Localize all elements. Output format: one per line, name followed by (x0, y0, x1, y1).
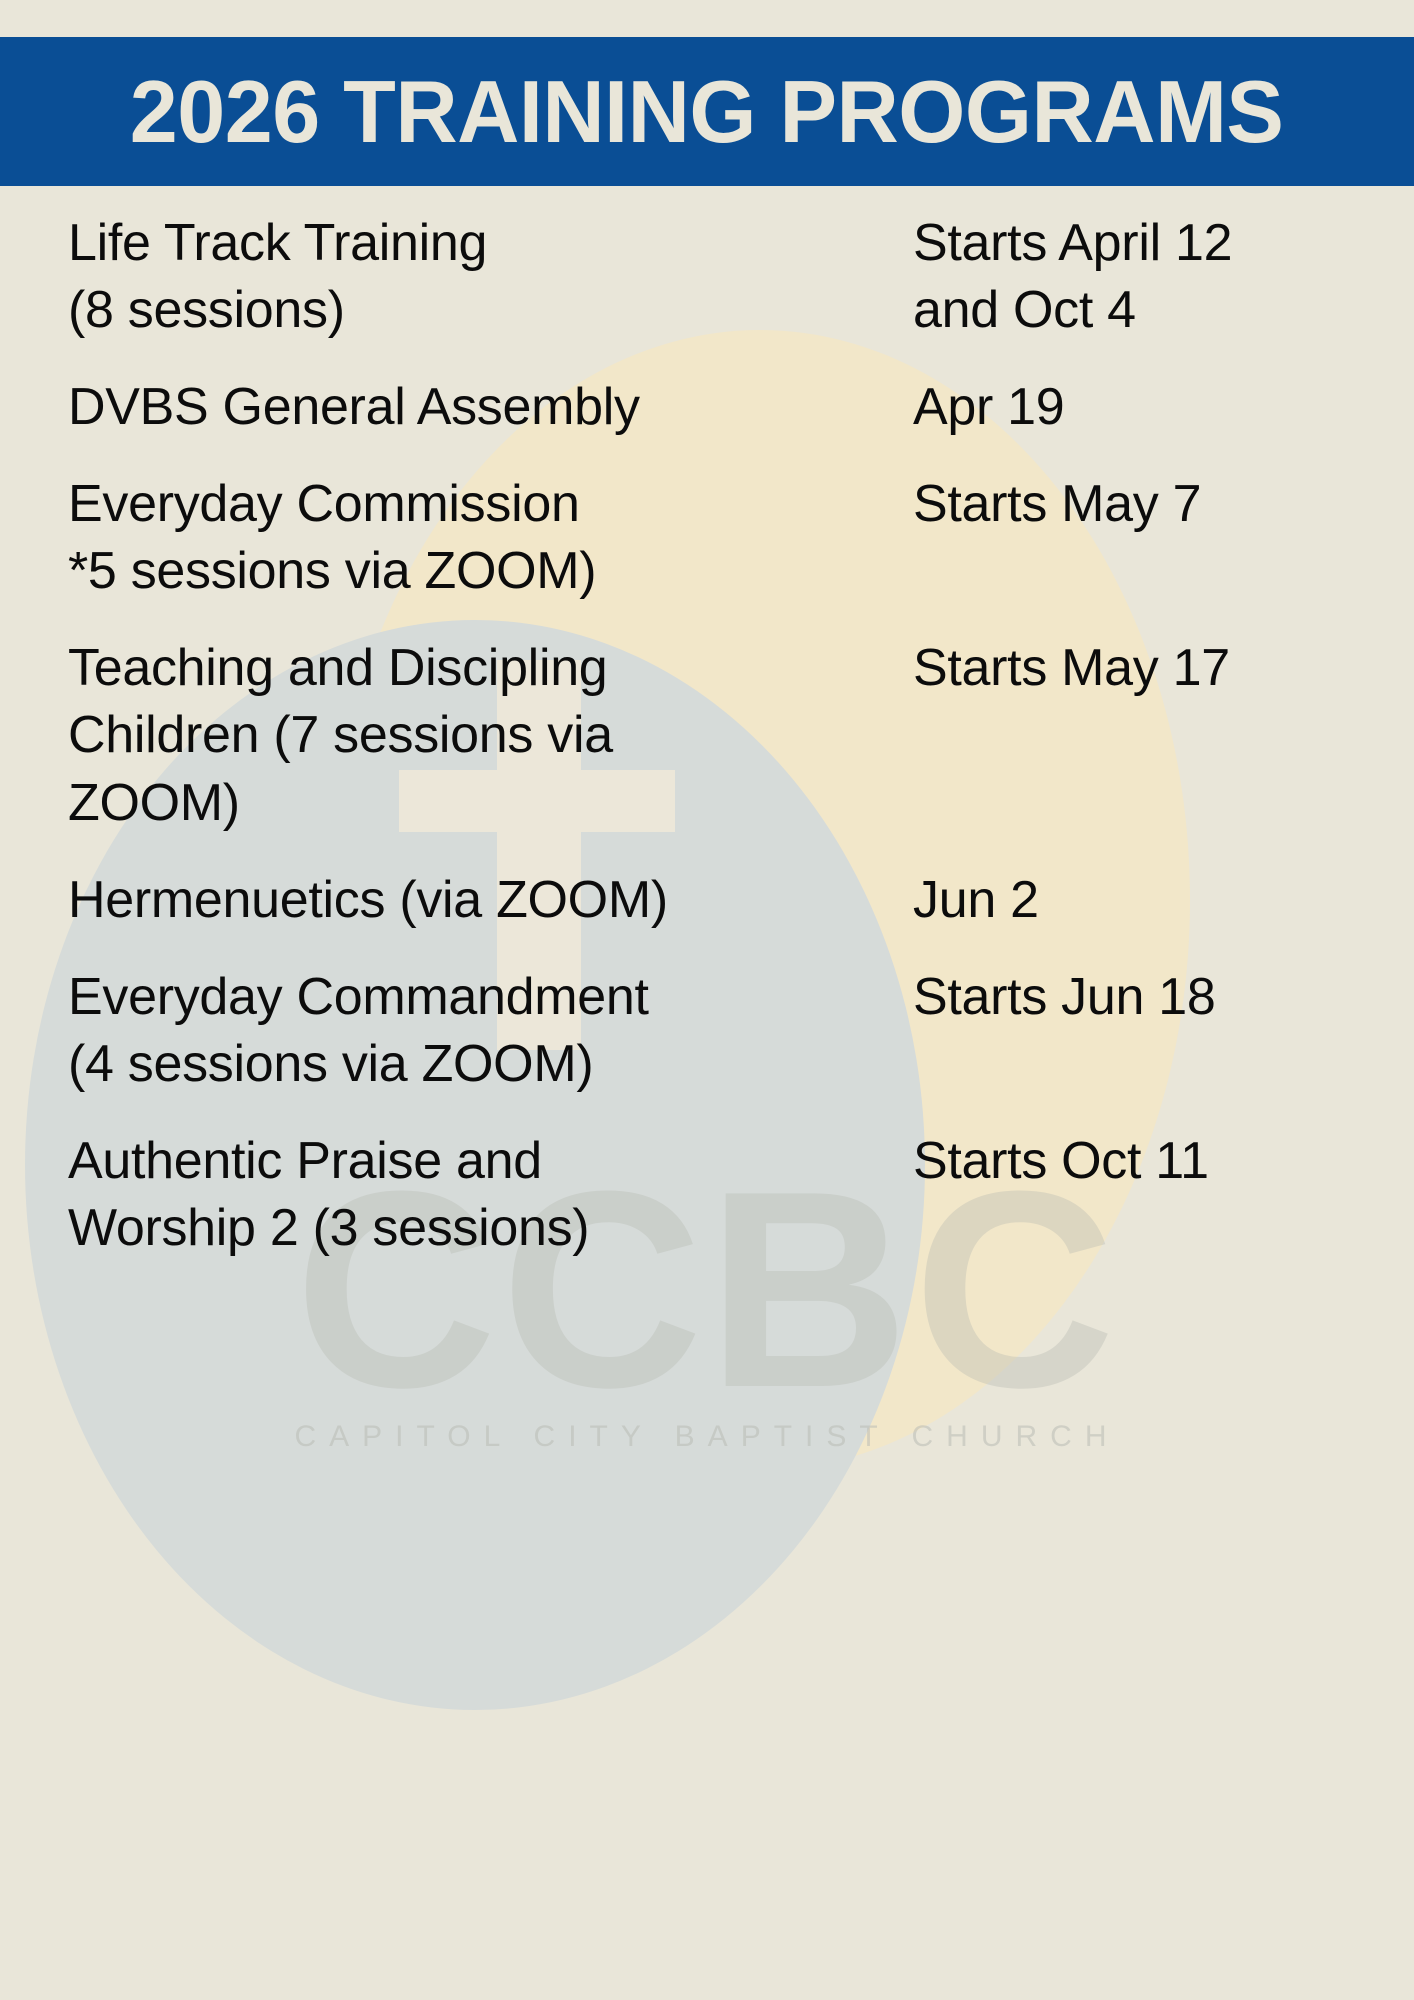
program-name-line: Authentic Praise and (68, 1128, 913, 1195)
program-row: Hermenuetics (via ZOOM) Jun 2 (68, 867, 1354, 934)
program-date-line: Starts Oct 11 (913, 1128, 1354, 1195)
training-programs-poster: CCBC CAPITOL CITY BAPTIST CHURCH 2026 TR… (0, 0, 1414, 2000)
program-date: Starts Oct 11 (913, 1128, 1354, 1195)
program-date: Jun 2 (913, 867, 1354, 934)
program-date-line: and Oct 4 (913, 277, 1354, 344)
program-date-line: Apr 19 (913, 374, 1354, 441)
program-name-line: Teaching and Discipling (68, 635, 913, 702)
program-name: DVBS General Assembly (68, 374, 913, 441)
program-name-line: (8 sessions) (68, 277, 913, 344)
program-date: Starts May 7 (913, 471, 1354, 538)
program-name-line: Everyday Commission (68, 471, 913, 538)
program-date-line: Jun 2 (913, 867, 1354, 934)
program-name: Everyday Commission *5 sessions via ZOOM… (68, 471, 913, 605)
program-name-line: Hermenuetics (via ZOOM) (68, 867, 913, 934)
program-name-line: *5 sessions via ZOOM) (68, 538, 913, 605)
program-name-line: (4 sessions via ZOOM) (68, 1031, 913, 1098)
program-date-line: Starts April 12 (913, 210, 1354, 277)
program-name-line: Worship 2 (3 sessions) (68, 1195, 913, 1262)
program-row: DVBS General Assembly Apr 19 (68, 374, 1354, 441)
program-list: Life Track Training (8 sessions) Starts … (0, 210, 1414, 1292)
program-date-line: Starts Jun 18 (913, 964, 1354, 1031)
program-name-line: DVBS General Assembly (68, 374, 913, 441)
program-name: Everyday Commandment (4 sessions via ZOO… (68, 964, 913, 1098)
program-date-line: Starts May 7 (913, 471, 1354, 538)
program-row: Authentic Praise and Worship 2 (3 sessio… (68, 1128, 1354, 1262)
program-name-line: ZOOM) (68, 770, 913, 837)
program-name-line: Everyday Commandment (68, 964, 913, 1031)
program-date-line: Starts May 17 (913, 635, 1354, 702)
program-name: Authentic Praise and Worship 2 (3 sessio… (68, 1128, 913, 1262)
poster-header-band: 2026 TRAINING PROGRAMS (0, 37, 1414, 186)
program-name-line: Children (7 sessions via (68, 702, 913, 769)
program-date: Starts April 12 and Oct 4 (913, 210, 1354, 344)
program-row: Everyday Commission *5 sessions via ZOOM… (68, 471, 1354, 605)
program-name: Life Track Training (8 sessions) (68, 210, 913, 344)
church-name-watermark: CAPITOL CITY BAPTIST CHURCH (0, 1420, 1414, 1454)
program-date: Starts Jun 18 (913, 964, 1354, 1031)
program-name-line: Life Track Training (68, 210, 913, 277)
program-date: Starts May 17 (913, 635, 1354, 702)
program-name: Hermenuetics (via ZOOM) (68, 867, 913, 934)
program-date: Apr 19 (913, 374, 1354, 441)
page-title: 2026 TRAINING PROGRAMS (130, 61, 1284, 163)
program-row: Life Track Training (8 sessions) Starts … (68, 210, 1354, 344)
program-name: Teaching and Discipling Children (7 sess… (68, 635, 913, 836)
program-row: Teaching and Discipling Children (7 sess… (68, 635, 1354, 836)
program-row: Everyday Commandment (4 sessions via ZOO… (68, 964, 1354, 1098)
